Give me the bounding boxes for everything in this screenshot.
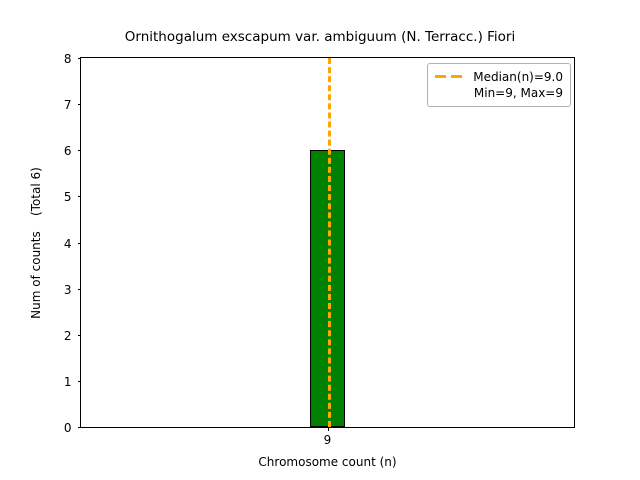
legend-dashed-line-icon — [435, 69, 465, 85]
chart-figure: Ornithogalum exscapum var. ambiguum (N. … — [0, 0, 640, 480]
plot-inner — [81, 58, 574, 427]
chart-legend[interactable]: Median(n)=9.0 Min=9, Max=9 — [427, 63, 571, 107]
y-tick-label-6: 6 — [64, 144, 72, 158]
y-tick-label-5: 5 — [64, 190, 72, 204]
y-tick-label-0: 0 — [64, 421, 72, 435]
y-axis-label-text: Num of counts (Total 6) — [29, 167, 43, 319]
plot-area: 0 1 2 3 4 5 6 7 8 9 Median(n)=9.0 Min=9,… — [80, 57, 575, 428]
y-tick-0: 0 — [78, 427, 82, 428]
legend-label-median: Median(n)=9.0 — [473, 69, 563, 85]
y-tick-label-7: 7 — [64, 98, 72, 112]
y-axis-label: Num of counts (Total 6) — [28, 57, 44, 428]
y-tick-label-4: 4 — [64, 237, 72, 251]
x-tick-label-0: 9 — [324, 433, 332, 447]
y-tick-label-2: 2 — [64, 329, 72, 343]
legend-text: Median(n)=9.0 Min=9, Max=9 — [473, 69, 563, 101]
median-line — [328, 58, 331, 427]
legend-label-minmax: Min=9, Max=9 — [474, 85, 563, 101]
y-tick-label-1: 1 — [64, 375, 72, 389]
y-tick-label-8: 8 — [64, 52, 72, 66]
y-tick-label-3: 3 — [64, 283, 72, 297]
chart-title: Ornithogalum exscapum var. ambiguum (N. … — [0, 29, 640, 45]
x-axis-label: Chromosome count (n) — [80, 455, 575, 469]
x-tick-0 — [328, 427, 329, 431]
